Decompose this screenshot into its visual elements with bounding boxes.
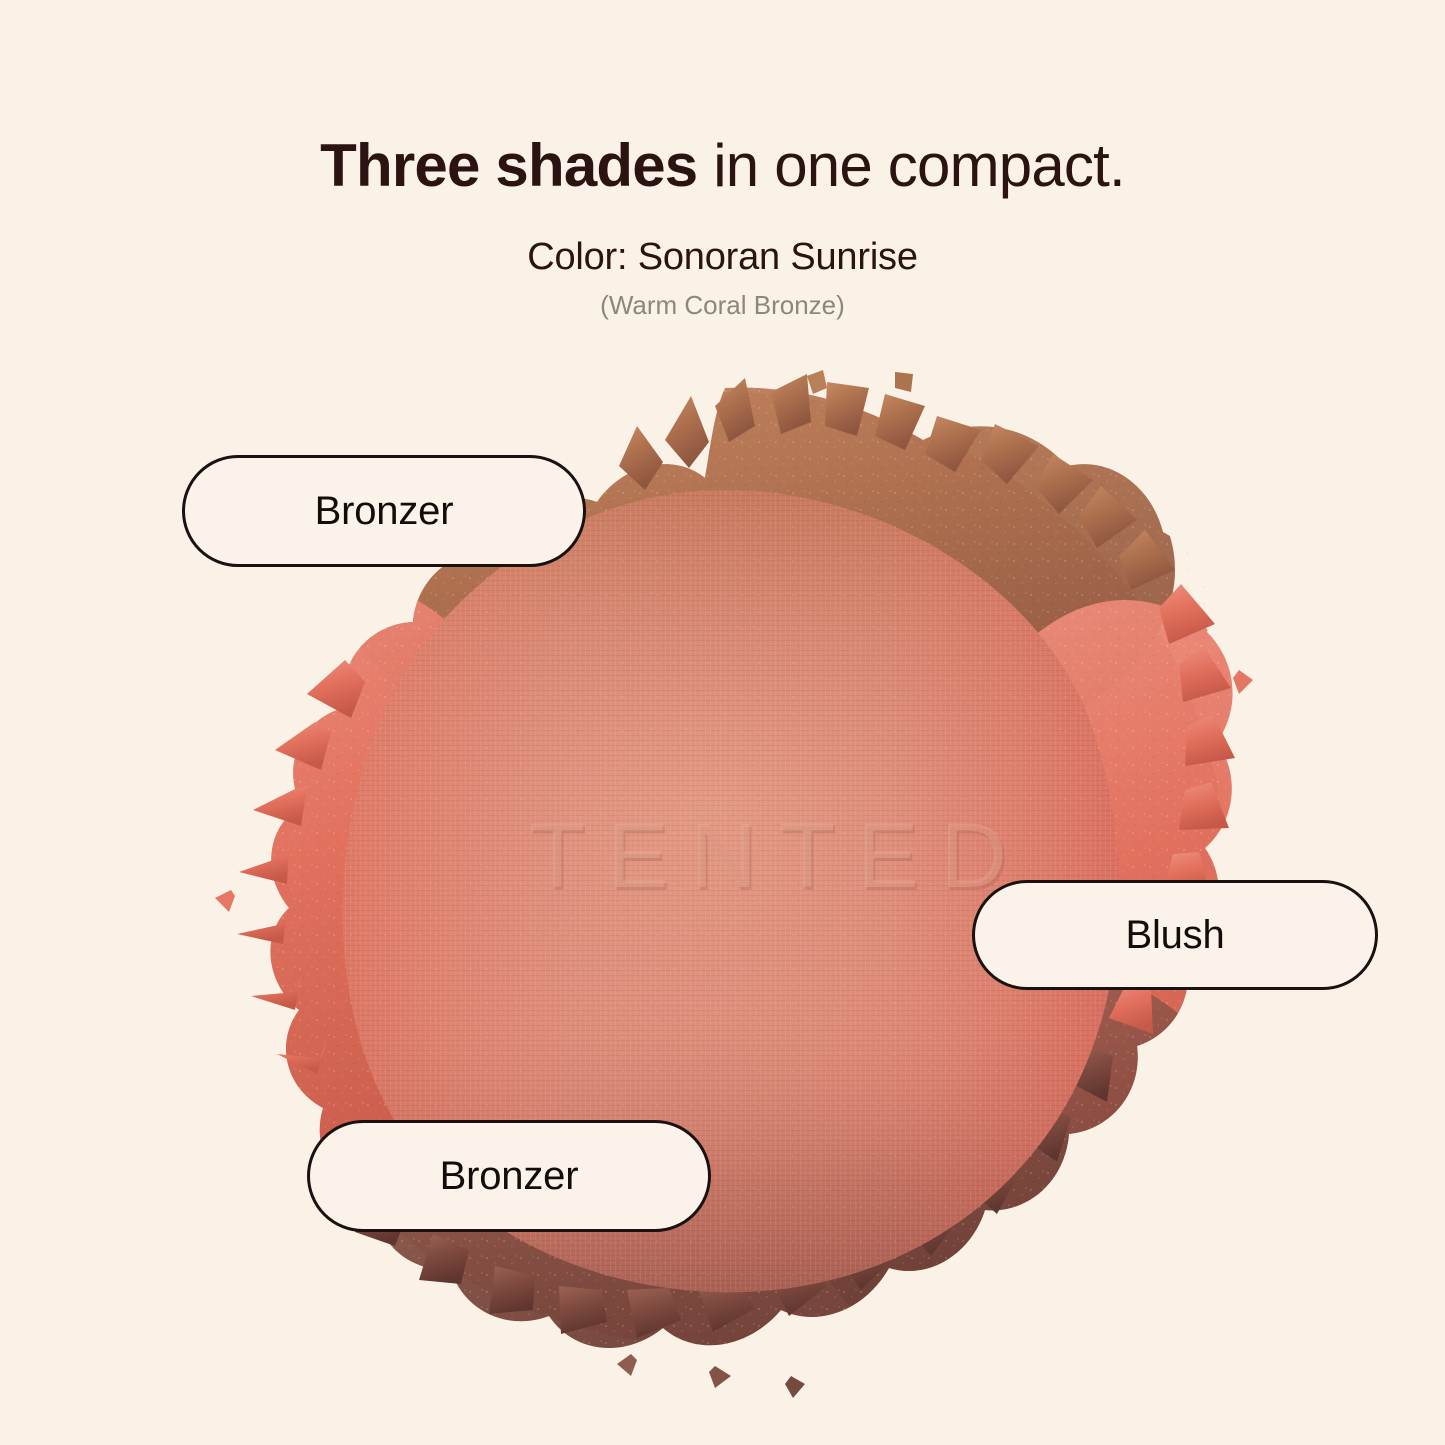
callout-label: Bronzer (315, 489, 454, 534)
shade-color-note: (Warm Coral Bronze) (0, 290, 1445, 321)
callout-blush[interactable]: Blush (972, 880, 1378, 990)
promo-image: Three shades in one compact. Color: Sono… (0, 0, 1445, 1445)
callout-bronzer-bottom[interactable]: Bronzer (307, 1120, 711, 1232)
shade-color-line: Color: Sonoran Sunrise (0, 236, 1445, 279)
embossed-brand-logo: TENTED TENTED (529, 805, 1031, 910)
headline-emphasis: Three shades (320, 132, 697, 199)
callout-bronzer-top[interactable]: Bronzer (182, 455, 586, 567)
headline-remainder: in one compact. (697, 132, 1124, 199)
callout-label: Blush (1125, 913, 1224, 958)
svg-text:TENTED: TENTED (529, 805, 1029, 907)
callout-label: Bronzer (440, 1154, 579, 1199)
page-title: Three shades in one compact. (0, 133, 1445, 199)
